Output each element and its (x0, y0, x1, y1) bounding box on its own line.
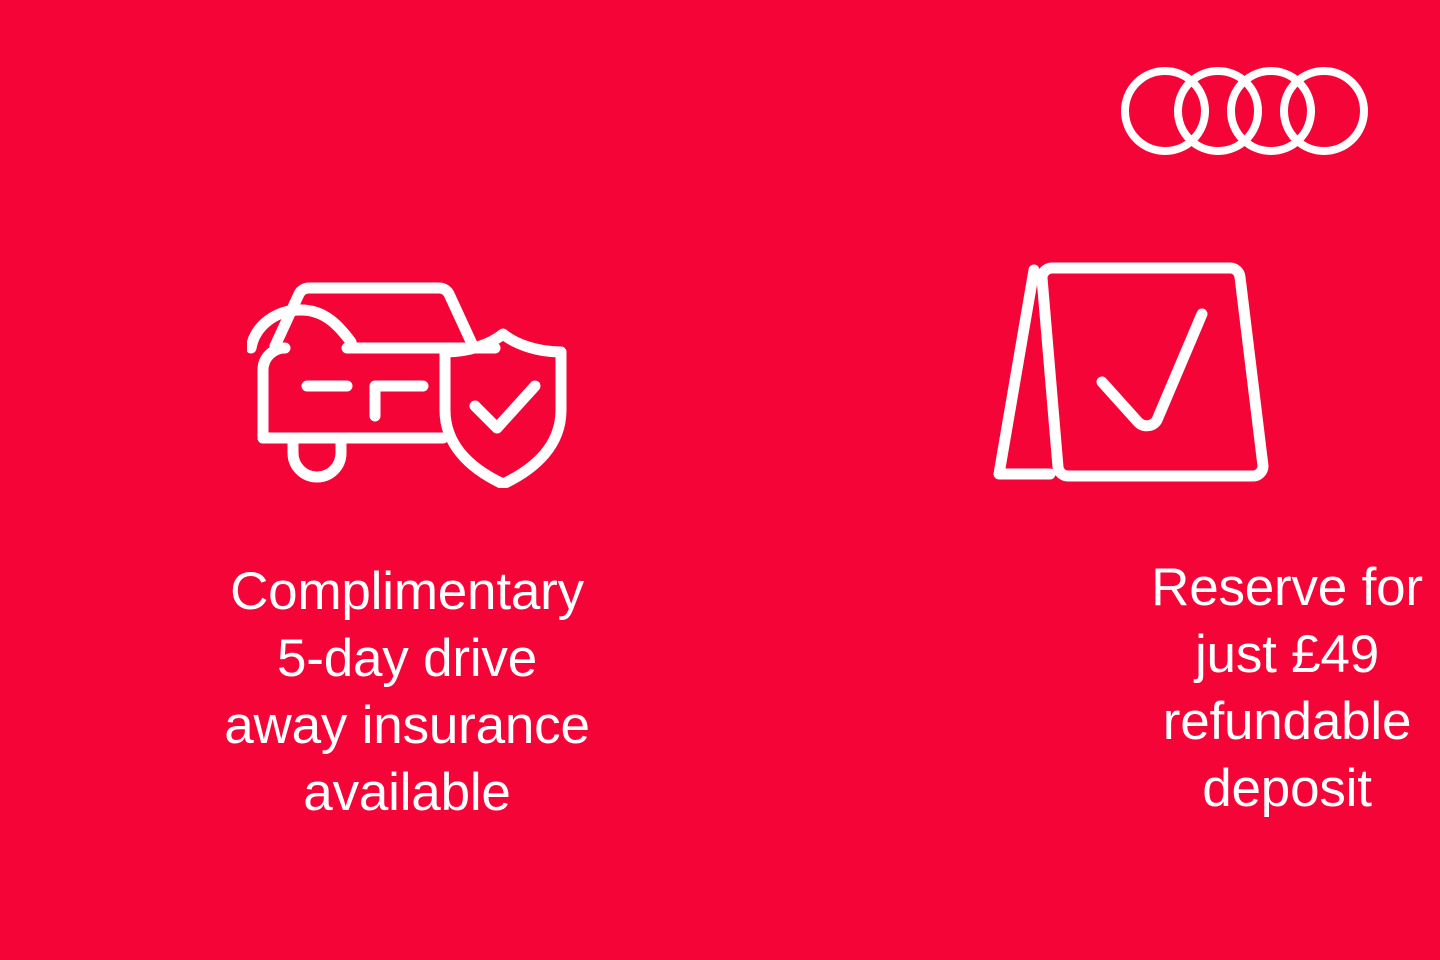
feature-caption-deposit: Reserve for just £49 refundable deposit (1037, 554, 1440, 822)
tent-card-checkmark-icon (815, 245, 1440, 488)
feature-caption-insurance: Complimentary 5-day drive away insurance… (97, 558, 717, 826)
promo-banner: Complimentary 5-day drive away insurance… (0, 0, 1440, 960)
car-shield-insurance-icon (0, 248, 815, 488)
feature-list: Complimentary 5-day drive away insurance… (0, 0, 1440, 960)
feature-item-insurance: Complimentary 5-day drive away insurance… (0, 0, 815, 826)
feature-item-deposit: Reserve for just £49 refundable deposit (815, 0, 1440, 822)
